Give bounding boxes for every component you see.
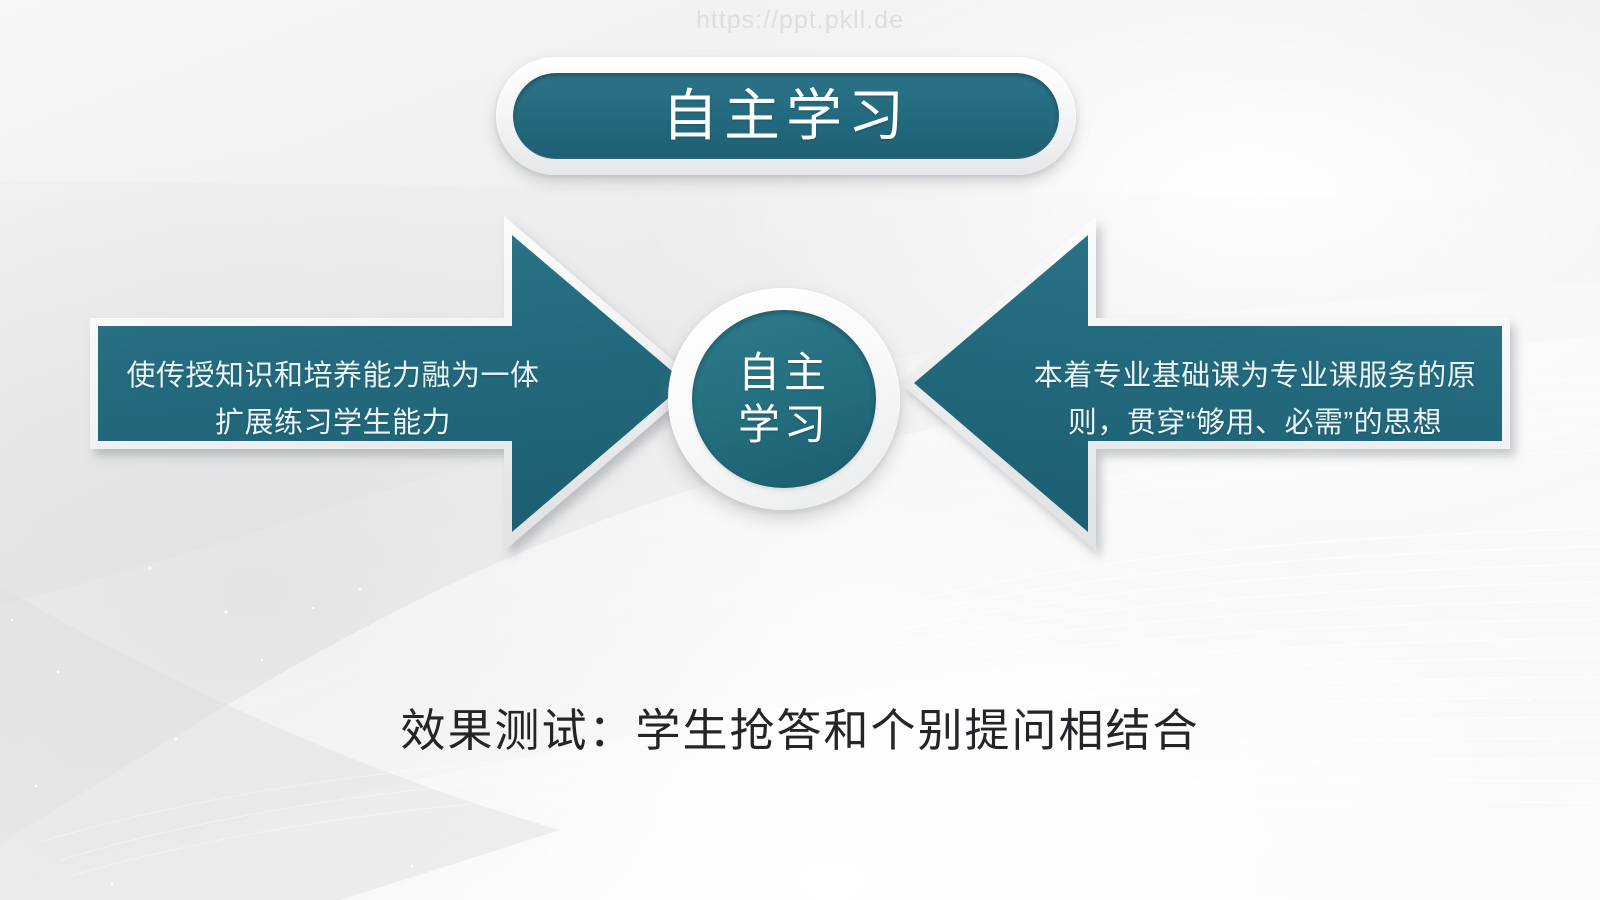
center-disc: 自主 学习 bbox=[692, 310, 876, 488]
arrow-right-line-1: 本着专业基础课为专业课服务的原 bbox=[1010, 353, 1500, 400]
title-banner-inner: 自主学习 bbox=[513, 73, 1059, 159]
page-title: 自主学习 bbox=[662, 88, 910, 144]
arrow-right-text: 本着专业基础课为专业课服务的原 则，贯穿“够用、必需”的思想 bbox=[1010, 345, 1500, 455]
center-node: 自主 学习 bbox=[668, 288, 900, 510]
arrow-left-line-1: 使传授知识和培养能力融为一体 bbox=[98, 353, 568, 400]
center-label-line-2: 学习 bbox=[738, 399, 830, 451]
arrow-left-to-center: 使传授知识和培养能力融为一体 扩展练习学生能力 bbox=[88, 205, 708, 565]
watermark-url: https://ppt.pkll.de bbox=[0, 6, 1600, 35]
arrow-left-text: 使传授知识和培养能力融为一体 扩展练习学生能力 bbox=[98, 345, 568, 455]
arrow-right-to-center: 本着专业基础课为专业课服务的原 则，贯穿“够用、必需”的思想 bbox=[892, 205, 1512, 565]
arrow-right-line-2: 则，贯穿“够用、必需”的思想 bbox=[1010, 400, 1500, 447]
bottom-caption: 效果测试：学生抢答和个别提问相结合 bbox=[0, 703, 1600, 759]
center-label-line-1: 自主 bbox=[738, 347, 830, 399]
slide-canvas: https://ppt.pkll.de 自主学习 bbox=[0, 0, 1600, 900]
arrow-left-line-2: 扩展练习学生能力 bbox=[98, 400, 568, 447]
title-banner: 自主学习 bbox=[496, 57, 1076, 175]
